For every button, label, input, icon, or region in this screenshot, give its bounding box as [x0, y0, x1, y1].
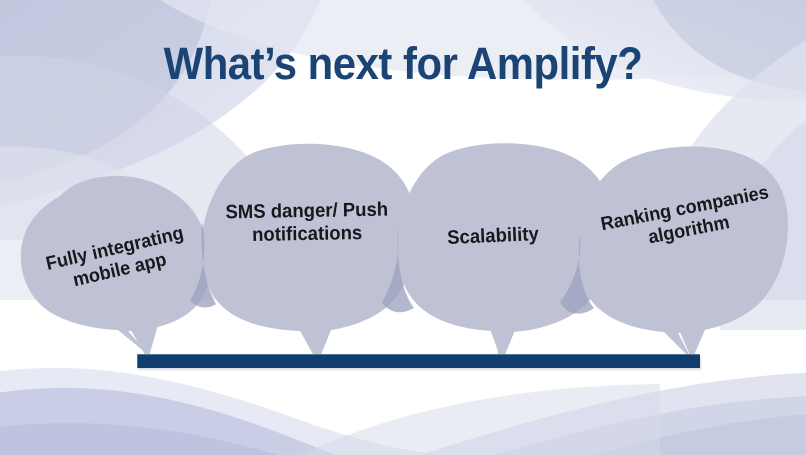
bubble-label-2: SMS danger/ Push notifications — [216, 198, 397, 247]
bubble-label-3: Scalability — [421, 222, 564, 251]
slide-content: What’s next for Amplify? Fully integrati… — [0, 0, 806, 455]
presentation-slide: What’s next for Amplify? Fully integrati… — [0, 0, 806, 455]
page-title: What’s next for Amplify? — [28, 40, 778, 87]
bubble-label-4: Ranking companies algorithm — [599, 182, 775, 259]
bubble-label-1: Fully integrating mobile app — [31, 220, 203, 301]
horizontal-baseline-bar — [137, 354, 700, 368]
